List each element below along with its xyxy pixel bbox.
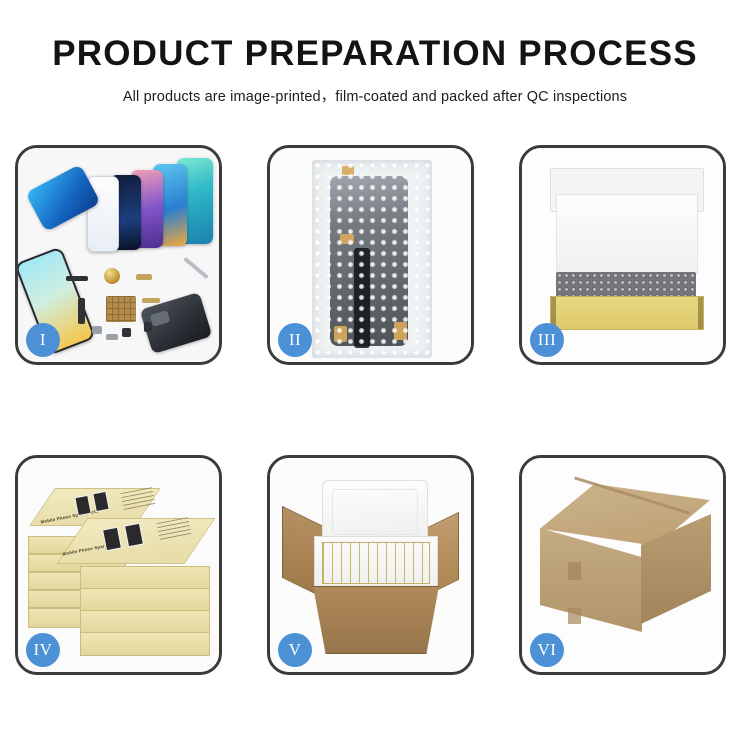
- process-step-panel-2[interactable]: II: [267, 145, 474, 365]
- step-badge-2: II: [278, 323, 312, 357]
- carton-tape-patch-lower-icon: [568, 608, 581, 624]
- stacked-box-r3: [80, 610, 210, 634]
- process-step-panel-3[interactable]: III: [519, 145, 726, 365]
- step-badge-1: I: [26, 323, 60, 357]
- tape-piece-middle-icon: [340, 234, 354, 244]
- kraft-box-base-icon: [550, 296, 704, 330]
- carton-body-icon: [306, 586, 446, 654]
- process-step-panel-4[interactable]: Mobile Phone Spare Parts Mobile Phone Sp…: [15, 455, 222, 675]
- stacked-box-r2: [80, 588, 210, 612]
- logic-board-icon: [106, 296, 136, 322]
- camera-module-icon: [122, 328, 131, 337]
- bubble-padding-icon: [556, 272, 696, 298]
- metal-bracket-icon: [92, 326, 102, 334]
- foam-box-lid-icon: [322, 480, 428, 544]
- gold-connector-icon: [136, 274, 152, 280]
- page-title: PRODUCT PREPARATION PROCESS: [0, 36, 750, 73]
- tape-piece-bottom-left-icon: [334, 326, 347, 342]
- step-badge-3: III: [530, 323, 564, 357]
- speaker-module-icon: [104, 268, 120, 284]
- stacked-box-r4: [80, 632, 210, 656]
- tape-piece-top-icon: [342, 166, 354, 175]
- process-steps-grid: I II III: [15, 145, 735, 675]
- foam-sheet-icon: [556, 194, 698, 274]
- vibration-motor-icon: [144, 322, 152, 332]
- tape-piece-bottom-right-icon: [394, 322, 407, 340]
- step-badge-4: IV: [26, 633, 60, 667]
- process-step-panel-5[interactable]: V: [267, 455, 474, 675]
- antenna-strip-icon: [142, 298, 160, 303]
- page-header: PRODUCT PREPARATION PROCESS All products…: [0, 0, 750, 106]
- wrapped-flex-cable-icon: [354, 248, 370, 348]
- bubble-wrap-bag-icon: [312, 160, 432, 358]
- step-badge-6: VI: [530, 633, 564, 667]
- flex-cable-icon: [66, 276, 88, 281]
- inner-yellow-boxes-icon: [322, 542, 430, 584]
- stacked-box-r1: [80, 566, 210, 590]
- process-step-panel-1[interactable]: I: [15, 145, 222, 365]
- sim-tray-icon: [106, 334, 118, 340]
- ribbon-cable-icon: [78, 298, 85, 324]
- page-subtitle: All products are image-printed，film-coat…: [0, 85, 750, 106]
- carton-tape-patch-upper-icon: [568, 562, 581, 580]
- step-badge-5: V: [278, 633, 312, 667]
- process-step-panel-6[interactable]: VI: [519, 455, 726, 675]
